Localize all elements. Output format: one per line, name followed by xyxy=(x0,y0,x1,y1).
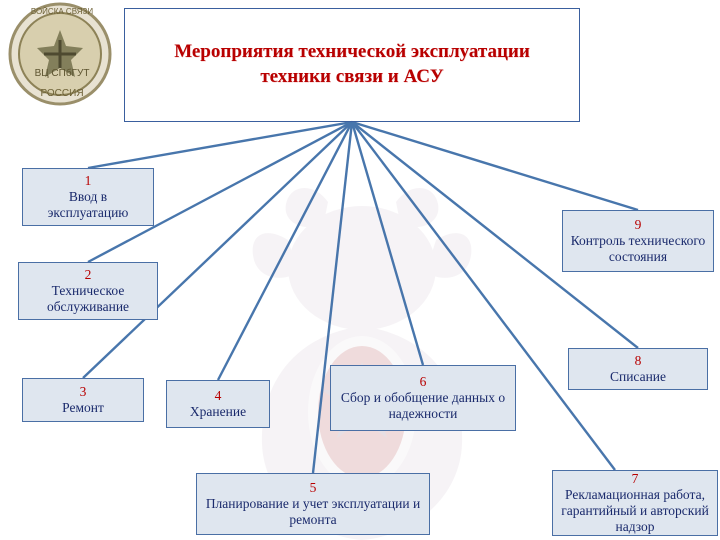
node-4-number: 4 xyxy=(190,388,246,404)
node-2-label: Техническое обслуживание xyxy=(23,283,153,315)
node-3-label: Ремонт xyxy=(62,400,104,416)
node-3-remont[interactable]: 3 Ремонт xyxy=(22,378,144,422)
node-8-number: 8 xyxy=(610,353,666,369)
node-2-tehnicheskoe-obsluzhivanie[interactable]: 2 Техническое обслуживание xyxy=(18,262,158,320)
node-6-sbor-i-obobshchenie-dannyh[interactable]: 6 Сбор и обобщение данных о надежности xyxy=(330,365,516,431)
node-9-label: Контроль технического состояния xyxy=(567,233,709,265)
node-4-hranenie[interactable]: 4 Хранение xyxy=(166,380,270,428)
diagram-canvas: ВОЙСКА СВЯЗИ ВЦ СПбГУТ РОССИЯ Мероприяти… xyxy=(0,0,720,540)
node-9-kontrol-tehnicheskogo-sostoyaniya[interactable]: 9 Контроль технического состояния xyxy=(562,210,714,272)
node-1-vvod-v-ekspluatatsiyu[interactable]: 1 Ввод в эксплуатацию xyxy=(22,168,154,226)
node-1-number: 1 xyxy=(27,173,149,189)
node-3-number: 3 xyxy=(62,384,104,400)
node-7-reklamatsionnaya-rabota[interactable]: 7 Рекламационная работа, гарантийный и а… xyxy=(552,470,718,536)
node-5-planirovanie-i-uchet[interactable]: 5 Планирование и учет эксплуатации и рем… xyxy=(196,473,430,535)
node-7-label: Рекламационная работа, гарантийный и авт… xyxy=(557,487,713,535)
node-5-label: Планирование и учет эксплуатации и ремон… xyxy=(201,496,425,528)
node-8-spisanie[interactable]: 8 Списание xyxy=(568,348,708,390)
node-1-label: Ввод в эксплуатацию xyxy=(27,189,149,221)
page-title: Мероприятия технической эксплуатации тех… xyxy=(125,40,579,89)
node-6-label: Сбор и обобщение данных о надежности xyxy=(335,390,511,422)
node-6-number: 6 xyxy=(335,374,511,390)
title-line-1: Мероприятия технической xyxy=(174,41,406,62)
node-9-number: 9 xyxy=(567,217,709,233)
node-4-label: Хранение xyxy=(190,404,246,420)
node-7-number: 7 xyxy=(557,471,713,487)
node-2-number: 2 xyxy=(23,267,153,283)
diagram-title-box: Мероприятия технической эксплуатации тех… xyxy=(124,8,580,122)
node-8-label: Списание xyxy=(610,369,666,385)
node-5-number: 5 xyxy=(201,480,425,496)
